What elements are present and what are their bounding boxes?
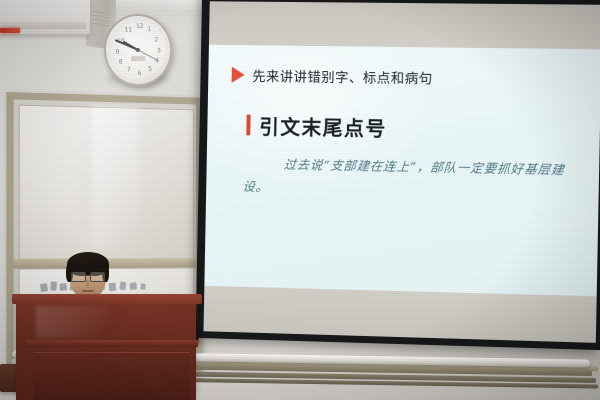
slide-body-sentence: 过去说“支部建在连上”，部队一定要抓好基层建设。 <box>242 157 565 195</box>
presenter-eyebrow-left <box>71 269 83 271</box>
heading-accent-bar <box>246 115 250 136</box>
screen-letterbox-bottom <box>204 286 597 343</box>
screen-letterbox-top <box>209 1 600 49</box>
clock-numeral: 1 <box>147 27 151 33</box>
clock-numeral: 2 <box>154 37 158 43</box>
clock-numeral: 3 <box>157 48 161 54</box>
clock-brand-plate <box>131 56 145 61</box>
clock-numeral: 6 <box>138 71 142 77</box>
projection-screen-surface: 先来讲讲错别字、标点和病句 引文末尾点号 过去说“支部建在连上”，部队一定要抓好… <box>204 1 600 343</box>
presenter-mouth <box>82 290 94 292</box>
slide-heading: 引文末尾点号 <box>259 111 387 142</box>
clock-numeral: 12 <box>136 23 144 29</box>
podium-molding <box>26 340 198 347</box>
air-conditioner-indicator-icon <box>0 28 20 33</box>
projection-screen-frame: 先来讲讲错别字、标点和病句 引文末尾点号 过去说“支部建在连上”，部队一定要抓好… <box>196 0 600 350</box>
slide-bullet-text: 先来讲讲错别字、标点和病句 <box>252 65 433 87</box>
clock-numeral: 11 <box>124 27 132 33</box>
body-indent <box>244 168 283 169</box>
air-conditioner <box>0 0 90 36</box>
clock-numeral: 9 <box>116 49 120 55</box>
presenter-nose <box>86 280 89 287</box>
presentation-slide: 先来讲讲错别字、标点和病句 引文末尾点号 过去说“支部建在连上”，部队一定要抓好… <box>204 45 600 297</box>
clock-numeral: 7 <box>127 68 131 74</box>
clock-numeral: 8 <box>119 60 123 66</box>
podium-front-panel <box>34 352 190 400</box>
air-conditioner-vent-lines <box>92 11 110 30</box>
clock-face: 12 1 2 3 4 5 6 7 8 9 10 11 <box>109 19 167 81</box>
whiteboard-glare <box>92 106 139 248</box>
presenter-eyebrow-right <box>92 269 104 271</box>
glasses-lens-left <box>71 272 86 282</box>
glasses-lens-right <box>90 272 105 282</box>
slide-body-text: 过去说“支部建在连上”，部队一定要抓好基层建设。 <box>242 152 587 205</box>
classroom-scene: 12 1 2 3 4 5 6 7 8 9 10 11 <box>0 0 600 400</box>
triangle-right-icon <box>232 67 245 83</box>
podium-top-surface <box>12 294 202 304</box>
podium <box>16 300 196 400</box>
clock-numeral: 5 <box>148 67 152 73</box>
slide-bullet-row: 先来讲讲错别字、标点和病句 <box>232 65 433 88</box>
podium-highlight <box>36 306 106 338</box>
glasses-icon <box>71 272 105 280</box>
slide-heading-row: 引文末尾点号 <box>246 111 387 142</box>
